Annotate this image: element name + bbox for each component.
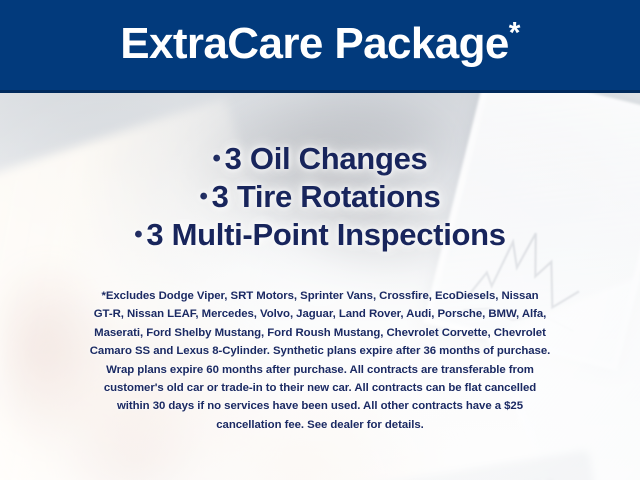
bullet-icon: • <box>213 145 221 172</box>
disclaimer-line: Camaro SS and Lexus 8-Cylinder. Syntheti… <box>90 345 550 357</box>
benefit-label: 3 Oil Changes <box>225 141 428 176</box>
disclaimer-line: GT-R, Nissan LEAF, Mercedes, Volvo, Jagu… <box>94 308 547 320</box>
page-title-asterisk: * <box>509 16 520 49</box>
benefit-item-multi-point-inspections: •3 Multi-Point Inspections <box>0 216 640 254</box>
disclaimer-text: *Excludes Dodge Viper, SRT Motors, Sprin… <box>26 287 614 434</box>
benefits-list: •3 Oil Changes •3 Tire Rotations •3 Mult… <box>0 140 640 254</box>
disclaimer-line: Wrap plans expire 60 months after purcha… <box>106 364 534 376</box>
disclaimer-line: within 30 days if no services have been … <box>117 400 523 412</box>
disclaimer-line: *Excludes Dodge Viper, SRT Motors, Sprin… <box>101 290 538 302</box>
benefit-label: 3 Tire Rotations <box>212 179 441 214</box>
extracare-package-banner: ExtraCare Package* •3 Oil Changes •3 Tir… <box>0 0 640 480</box>
benefit-label: 3 Multi-Point Inspections <box>146 217 505 252</box>
bullet-icon: • <box>199 183 207 210</box>
disclaimer-line: customer's old car or trade-in to their … <box>104 382 536 394</box>
benefit-item-oil-changes: •3 Oil Changes <box>0 140 640 178</box>
header-bar: ExtraCare Package* <box>0 0 640 93</box>
benefit-item-tire-rotations: •3 Tire Rotations <box>0 178 640 216</box>
disclaimer-line: Maserati, Ford Shelby Mustang, Ford Rous… <box>94 327 546 339</box>
bullet-icon: • <box>134 221 142 248</box>
disclaimer-line: cancellation fee. See dealer for details… <box>216 419 424 431</box>
page-title-text: ExtraCare Package <box>120 19 509 68</box>
page-title: ExtraCare Package* <box>120 22 520 69</box>
